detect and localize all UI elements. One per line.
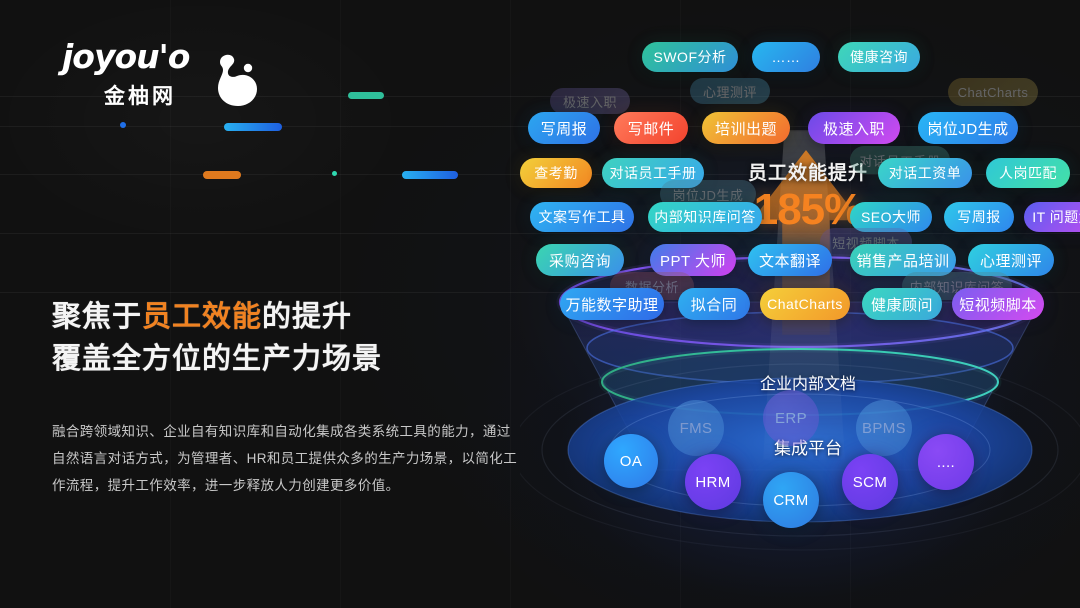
capability-chip-label: SWOF分析 (654, 47, 727, 67)
decor-dash (348, 92, 384, 99)
capability-chip-label: 心理测评 (980, 250, 1042, 271)
decor-dot (120, 122, 126, 128)
capability-chip-label: 采购咨询 (549, 250, 611, 271)
integration-bubble-label: SCM (853, 474, 888, 491)
capability-chip[interactable]: 健康顾问 (862, 288, 942, 320)
brand-logo: joyou'o 金柚网 (62, 40, 242, 112)
integration-bubble[interactable]: HRM (685, 454, 741, 510)
capability-chip[interactable]: 查考勤 (520, 158, 592, 188)
integration-bubble[interactable]: ERP (763, 390, 819, 446)
integration-bubble[interactable]: BPMS (856, 400, 912, 456)
capability-chip-label: SEO大师 (861, 207, 921, 227)
decor-dot (332, 171, 337, 176)
capability-chip-label: 文案写作工具 (539, 207, 626, 227)
capability-chip[interactable]: 对话工资单 (878, 158, 972, 188)
layer-label-documents: 企业内部文档 (720, 370, 896, 394)
decor-dash (203, 171, 241, 179)
integration-bubble[interactable]: FMS (668, 400, 724, 456)
integration-bubble-label: CRM (773, 492, 808, 509)
capability-chip[interactable]: 写周报 (528, 112, 600, 144)
capability-chip-label: …… (772, 49, 801, 65)
capability-chip-label: 岗位JD生成 (927, 118, 1008, 139)
slide-canvas: joyou'o 金柚网 聚焦于员工效能的提升 覆盖全方位的生产力场景 融合跨领域… (0, 0, 1080, 608)
integration-bubble-label: HRM (695, 474, 730, 491)
capability-chip[interactable]: 人岗匹配 (986, 158, 1070, 188)
capability-chip-label: 写邮件 (628, 118, 675, 139)
capability-chip[interactable]: ChatCharts (760, 288, 850, 320)
integration-bubble-label: ERP (775, 410, 807, 427)
capability-chip-label: 拟合同 (691, 294, 738, 315)
comma-blob-logo-icon (202, 48, 262, 108)
headline-highlight: 员工效能 (142, 301, 262, 333)
integration-bubble[interactable]: .... (918, 434, 974, 490)
capability-chip[interactable]: 拟合同 (678, 288, 750, 320)
capability-chip-label: 健康咨询 (850, 47, 908, 67)
capability-chip[interactable]: 文案写作工具 (530, 202, 634, 232)
decor-dash (224, 123, 282, 131)
capability-chip[interactable]: 文本翻译 (748, 244, 832, 276)
capability-chip-label: 万能数字助理 (565, 294, 658, 315)
headline-suffix: 的提升 (262, 301, 352, 333)
capability-chip[interactable]: …… (752, 42, 820, 72)
capability-chip-label: 查考勤 (534, 163, 578, 183)
capability-chip-label: 短视频脚本 (959, 294, 1037, 315)
capability-chip-label: 极速入职 (563, 92, 617, 111)
capability-chip-label: 内部知识库问答 (654, 207, 756, 227)
capability-chip[interactable]: IT 问题解答 (1024, 202, 1080, 232)
capability-chip[interactable]: 极速入职 (550, 88, 630, 114)
capability-chip[interactable]: 写邮件 (614, 112, 688, 144)
capability-chip-label: IT 问题解答 (1032, 207, 1080, 227)
integration-bubble[interactable]: OA (604, 434, 658, 488)
integration-bubble-label: OA (620, 453, 642, 470)
capability-chip-label: 写周报 (957, 207, 1001, 227)
capability-chip-label: 对话工资单 (889, 163, 962, 183)
capability-chip-label: ChatCharts (958, 85, 1029, 100)
capability-chip-label: 岗位JD生成 (673, 185, 744, 204)
capability-chip-label: 销售产品培训 (856, 250, 949, 271)
capability-chip-label: 文本翻译 (759, 250, 821, 271)
funnel-diagram: 员工效能提升 185% 企业内部文档 集成平台 极速入职SWOF分析……健康咨询… (520, 30, 1080, 570)
capability-chip[interactable]: 极速入职 (808, 112, 900, 144)
integration-bubble[interactable]: SCM (842, 454, 898, 510)
page-title: 聚焦于员工效能的提升 覆盖全方位的生产力场景 (52, 296, 522, 380)
integration-bubble-label: .... (937, 454, 955, 471)
capability-chip[interactable]: 健康咨询 (838, 42, 920, 72)
capability-chip-label: PPT 大师 (660, 250, 726, 271)
capability-chip[interactable]: 岗位JD生成 (918, 112, 1018, 144)
capability-chip-label: 心理测评 (703, 82, 757, 101)
capability-chip[interactable]: 采购咨询 (536, 244, 624, 276)
integration-bubble-label: BPMS (862, 420, 906, 437)
headline-line-2: 覆盖全方位的生产力场景 (52, 338, 522, 380)
capability-chip[interactable]: 写周报 (944, 202, 1014, 232)
capability-chip[interactable]: 培训出题 (702, 112, 790, 144)
capability-chip-label: 写周报 (541, 118, 588, 139)
capability-chip-label: ChatCharts (767, 296, 843, 312)
capability-chip[interactable]: 短视频脚本 (952, 288, 1044, 320)
capability-chip[interactable]: 心理测评 (690, 78, 770, 104)
integration-bubble[interactable]: CRM (763, 472, 819, 528)
capability-chip-label: 健康顾问 (871, 294, 933, 315)
capability-chip-label: 人岗匹配 (999, 163, 1057, 183)
body-paragraph: 融合跨领域知识、企业自有知识库和自动化集成各类系统工具的能力，通过自然语言对话方… (52, 418, 522, 499)
capability-chip[interactable]: 内部知识库问答 (648, 202, 762, 232)
capability-chip-label: 培训出题 (715, 118, 777, 139)
capability-chip[interactable]: ChatCharts (948, 78, 1038, 106)
headline-prefix: 聚焦于 (52, 301, 142, 333)
integration-bubble-label: FMS (680, 420, 713, 437)
capability-chip-label: 极速入职 (823, 118, 885, 139)
decor-dash (402, 171, 458, 179)
capability-chip[interactable]: SWOF分析 (642, 42, 738, 72)
capability-chip[interactable]: 万能数字助理 (560, 288, 664, 320)
headline-line-1: 聚焦于员工效能的提升 (52, 296, 522, 338)
